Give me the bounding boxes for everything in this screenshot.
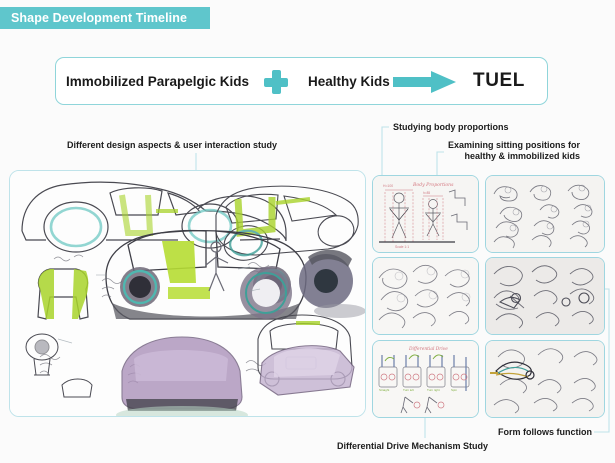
svg-text:h=85: h=85	[423, 191, 430, 195]
equation-term-healthy-kids: Healthy Kids	[308, 74, 390, 89]
differential-drive-photo: Differential Drive	[372, 340, 479, 418]
plus-icon	[264, 70, 288, 94]
svg-text:H=100: H=100	[383, 184, 393, 188]
callout-sitting-positions-line2: healthy & immobilized kids	[448, 151, 580, 162]
concept-equation-box: Immobilized Parapelgic Kids Healthy Kids…	[55, 57, 548, 105]
svg-text:Differential Drive: Differential Drive	[408, 347, 448, 352]
callout-differential-drive: Differential Drive Mechanism Study	[337, 441, 488, 452]
sketch-artwork	[10, 171, 365, 416]
page-title: Shape Development Timeline	[11, 11, 187, 25]
form-sketch-photo-a	[372, 257, 479, 335]
callout-main-sketches: Different design aspects & user interact…	[67, 140, 277, 151]
concept-car-sketch-board	[9, 170, 366, 417]
callout-sitting-positions: Examining sitting positions for healthy …	[448, 140, 580, 162]
callout-form-follows-function: Form follows function	[498, 427, 592, 438]
slide-title-banner: Shape Development Timeline	[0, 7, 210, 29]
connector-body-proportions	[382, 127, 389, 175]
svg-text:Body Proportions: Body Proportions	[412, 182, 454, 188]
equation-result-tuel: TUEL	[473, 70, 525, 92]
svg-text:Straight: Straight	[379, 388, 390, 392]
callout-sitting-positions-line1: Examining sitting positions for	[448, 140, 580, 151]
svg-text:Turn right: Turn right	[427, 388, 440, 392]
sitting-positions-photo	[485, 175, 605, 253]
svg-text:Spin: Spin	[451, 388, 457, 392]
slide-canvas: Shape Development Timeline Immobilized P…	[0, 0, 615, 463]
body-proportions-photo: Body Proportions H=100 h=85 Scale 1:1	[372, 175, 479, 253]
callout-body-proportions: Studying body proportions	[393, 122, 509, 133]
form-sketch-photo-c	[485, 340, 605, 418]
form-sketch-photo-b	[485, 257, 605, 335]
svg-text:Turn left: Turn left	[403, 388, 414, 392]
equation-term-immobilized-kids: Immobilized Parapelgic Kids	[66, 74, 249, 89]
connector-sitting-positions	[437, 152, 444, 175]
arrow-right-icon	[393, 71, 456, 93]
svg-text:Scale 1:1: Scale 1:1	[395, 245, 409, 249]
